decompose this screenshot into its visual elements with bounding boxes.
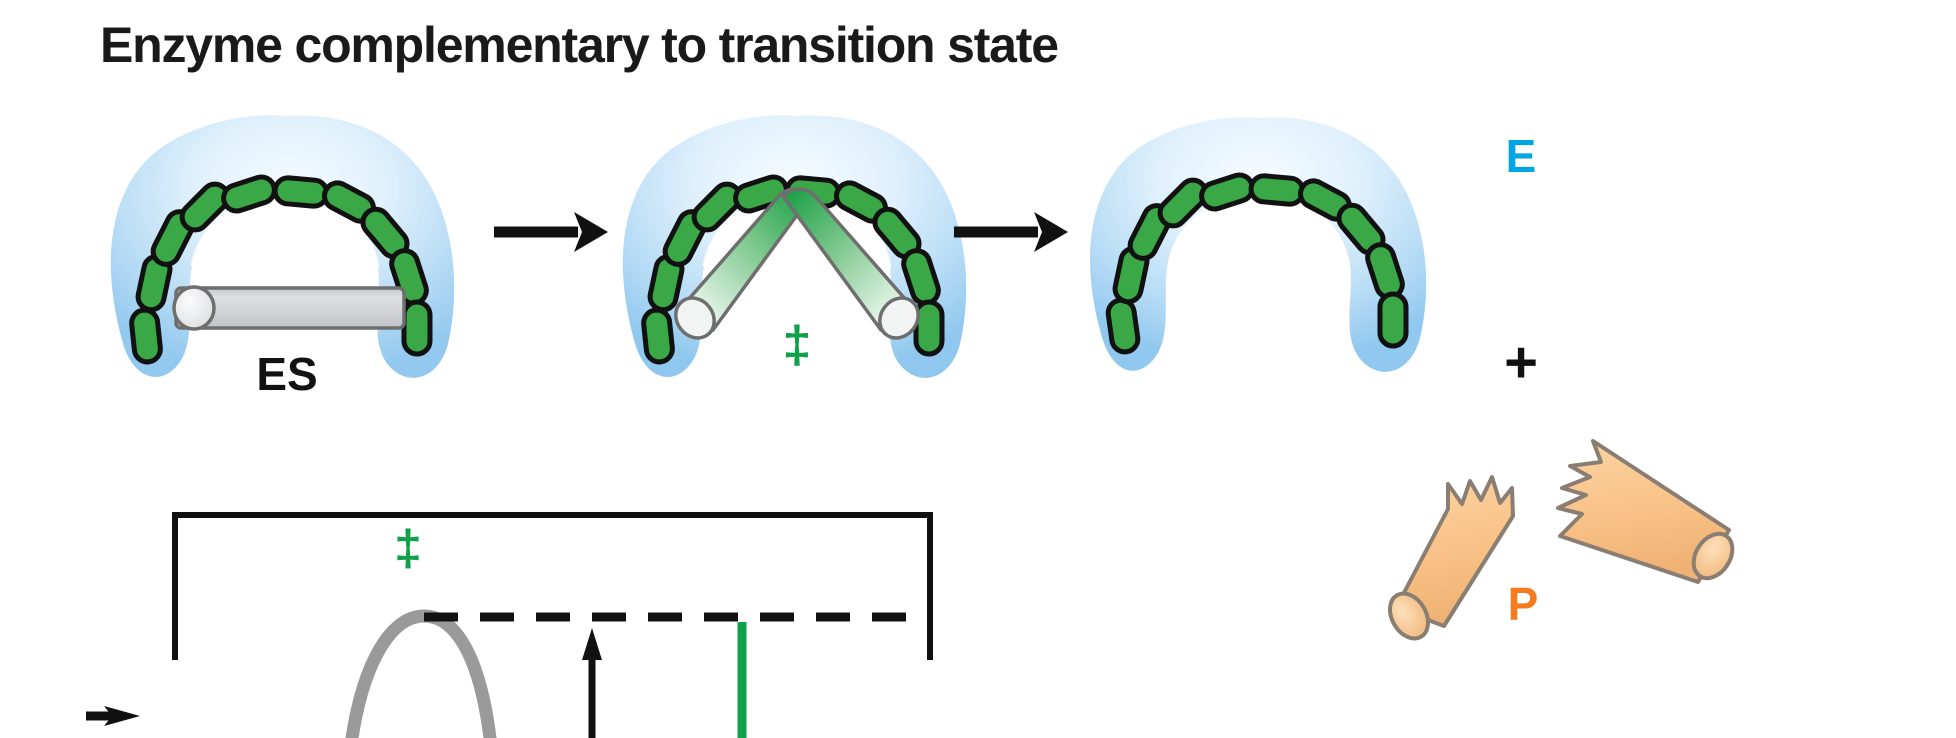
label-plus: + [1504,330,1538,395]
panel-transition-state: ‡ [623,115,966,378]
panel-free-enzyme-products: E + P [1090,117,1740,645]
reaction-arrow-2 [954,212,1068,252]
energy-panel-border [175,515,930,660]
label-energy-peak-dagger: ‡ [394,520,422,576]
product-fragment-left [1382,477,1513,645]
label-es: ES [256,348,317,400]
label-transition-dagger: ‡ [783,316,812,374]
delta-g-axis-arrow [86,706,140,726]
substrate-end-cap [174,287,214,329]
energy-curve [352,616,490,738]
product-fragment-right [1558,441,1740,585]
figure-root: Enzyme complementary to transition state [0,0,1956,738]
energy-gap-arrow [582,628,602,738]
reaction-arrow-1 [494,212,608,252]
label-product-p: P [1508,578,1539,630]
diagram-canvas: ES [0,0,1956,738]
panel-enzyme-substrate: ES [111,115,454,400]
free-energy-diagram-panel: ‡ [86,515,930,738]
substrate-molecule [174,287,404,329]
label-enzyme-e: E [1506,130,1537,182]
